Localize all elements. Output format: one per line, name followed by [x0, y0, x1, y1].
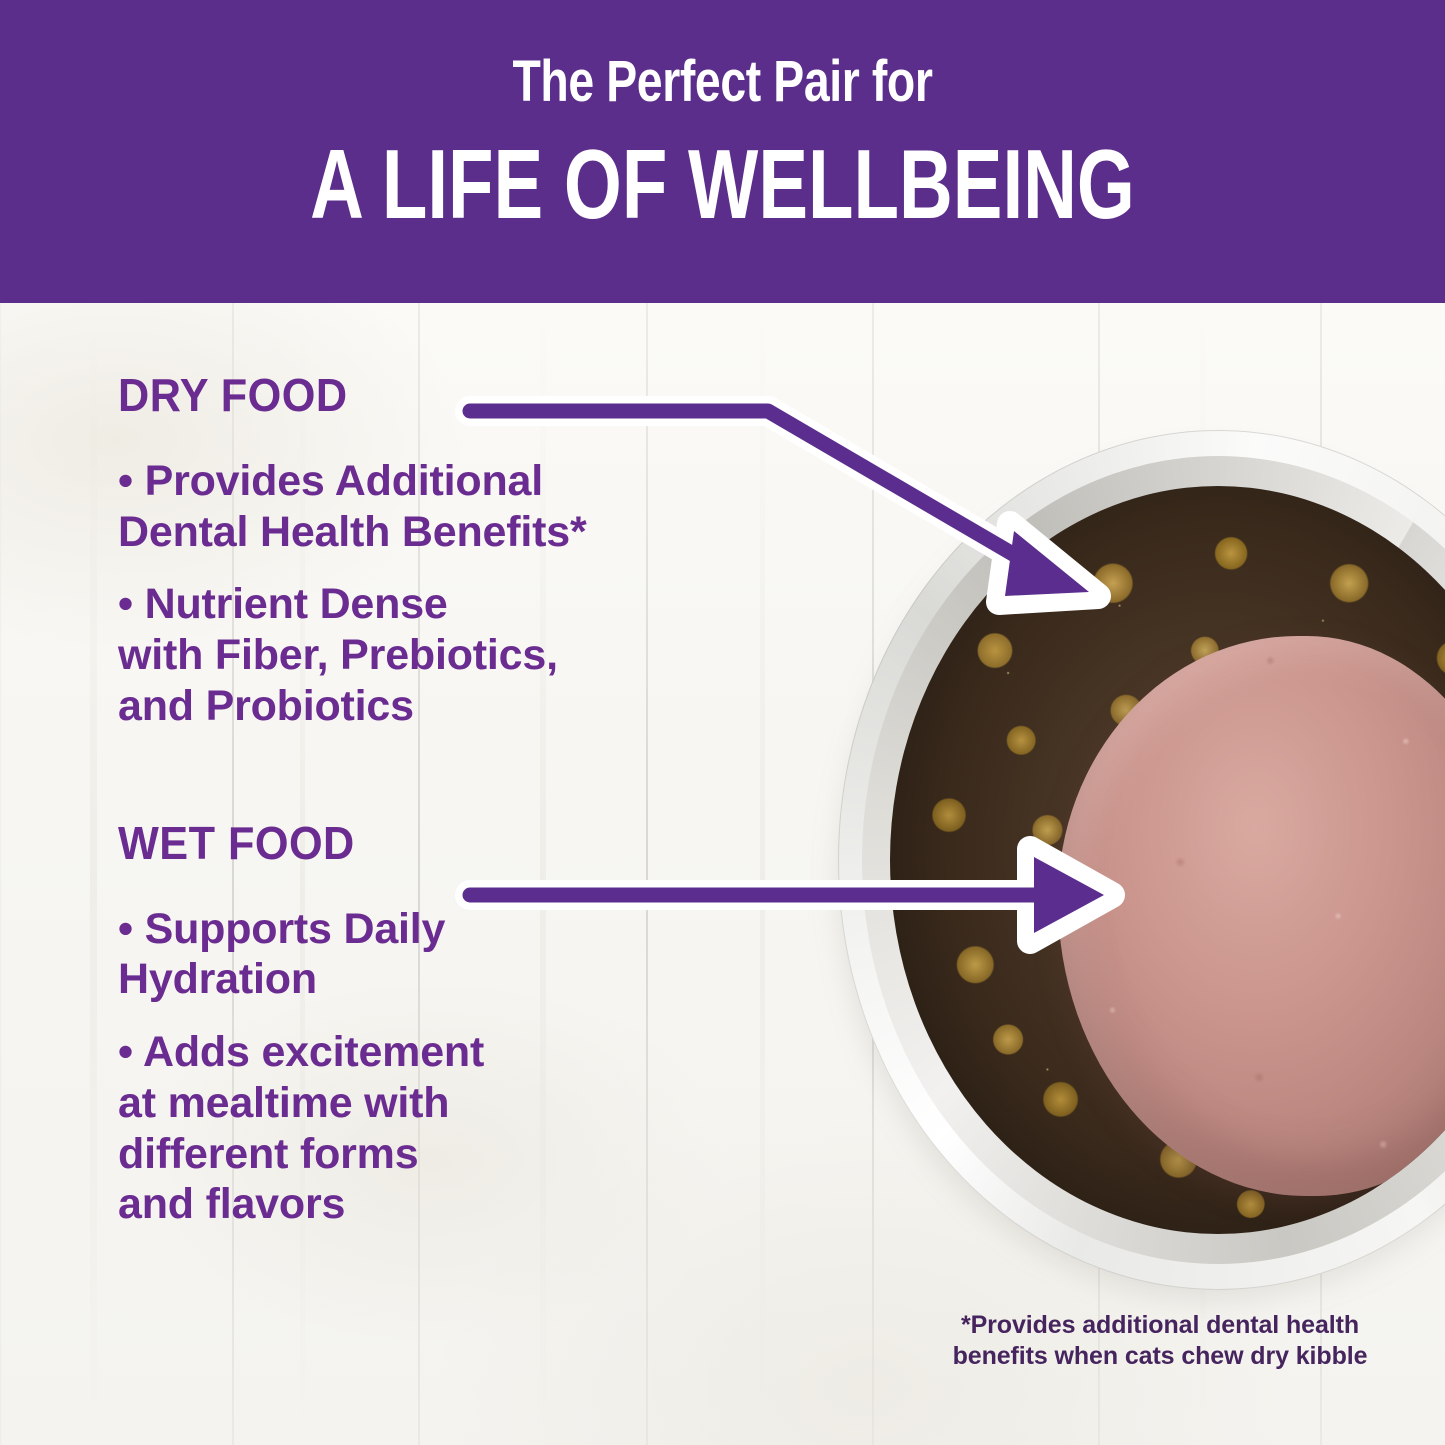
- bullet-item: • Nutrient Dense with Fiber, Prebiotics,…: [118, 579, 818, 731]
- bullet-line: • Adds excitement: [118, 1027, 818, 1078]
- wet-food-bullets: • Supports Daily Hydration • Adds excite…: [118, 904, 818, 1230]
- bullet-line: • Supports Daily: [118, 904, 818, 955]
- bullet-line: and Probiotics: [118, 681, 818, 732]
- bullet-line: Dental Health Benefits*: [118, 507, 818, 558]
- wood-grain: [90, 303, 97, 1445]
- bullet-item: • Supports Daily Hydration: [118, 904, 818, 1005]
- bullet-line: different forms: [118, 1129, 818, 1180]
- dry-food-bullets: • Provides Additional Dental Health Bene…: [118, 456, 818, 732]
- wet-pate-mound: [1058, 636, 1445, 1196]
- benefits-column: DRY FOOD • Provides Additional Dental He…: [118, 372, 818, 1230]
- bullet-line: with Fiber, Prebiotics,: [118, 630, 818, 681]
- bullet-line: • Provides Additional: [118, 456, 818, 507]
- food-bowl-photo: [838, 430, 1445, 1300]
- bullet-line: • Nutrient Dense: [118, 579, 818, 630]
- section-heading-dry-food: DRY FOOD: [118, 372, 776, 418]
- bullet-line: and flavors: [118, 1179, 818, 1230]
- infographic-canvas: The Perfect Pair for A LIFE OF WELLBEING…: [0, 0, 1445, 1445]
- pate-texture: [1058, 636, 1445, 1196]
- footnote-line: *Provides additional dental health: [930, 1310, 1390, 1341]
- bullet-line: at mealtime with: [118, 1078, 818, 1129]
- footnote-line: benefits when cats chew dry kibble: [930, 1341, 1390, 1372]
- bullet-item: • Provides Additional Dental Health Bene…: [118, 456, 818, 557]
- footnote: *Provides additional dental health benef…: [930, 1310, 1390, 1371]
- bullet-line: Hydration: [118, 954, 818, 1005]
- section-heading-wet-food: WET FOOD: [118, 820, 776, 866]
- header-kicker: The Perfect Pair for: [145, 48, 1301, 115]
- header-band: The Perfect Pair for A LIFE OF WELLBEING: [0, 0, 1445, 303]
- header-headline: A LIFE OF WELLBEING: [173, 128, 1271, 241]
- bullet-item: • Adds excitement at mealtime with diffe…: [118, 1027, 818, 1230]
